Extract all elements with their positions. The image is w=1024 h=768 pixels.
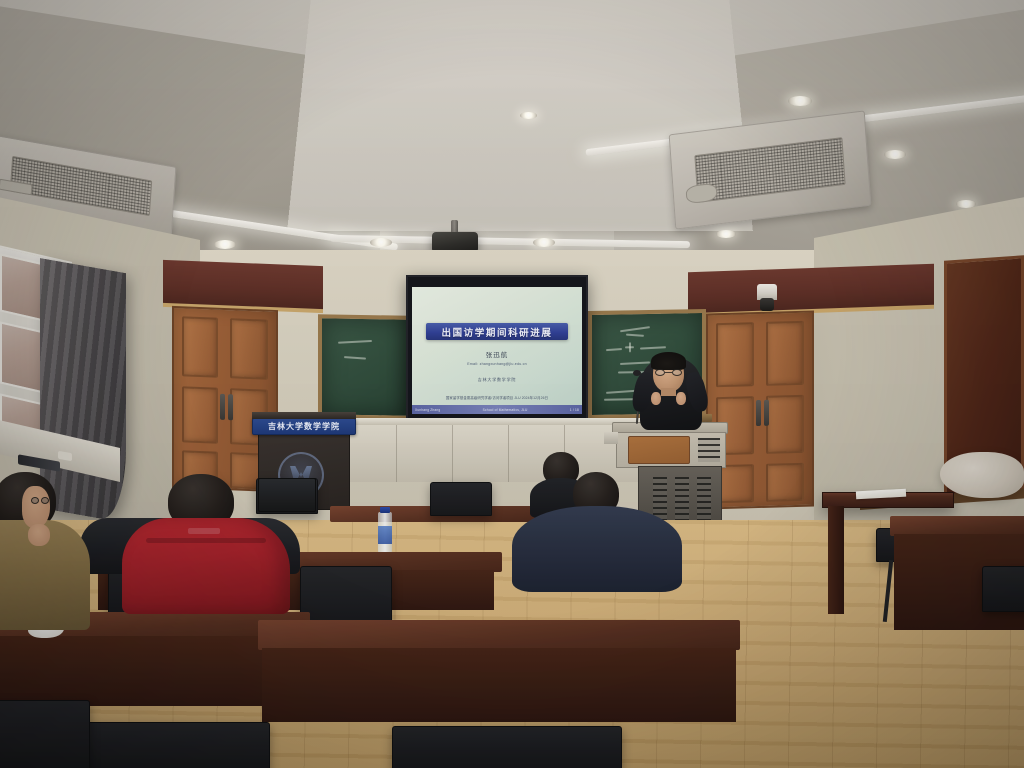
slide-footer-right: 1 / 18 — [570, 408, 579, 412]
slide-footer-left: Xunhang Zhang — [415, 408, 440, 412]
podium-wood-panel — [628, 436, 690, 464]
podium-speaker-vent — [698, 438, 720, 462]
green-chalkboard-left — [318, 314, 410, 420]
slide-affiliation: 吉林大学数学学院 — [412, 377, 582, 383]
wall-seam — [396, 424, 397, 482]
wall-seam — [452, 424, 453, 482]
bottle-cap-icon — [380, 507, 390, 513]
slide-meta-line: 国家留学基金委高级研究学者/访问学者项目 JLU 2024年12月26日 — [412, 395, 582, 400]
chair-front-a — [80, 722, 270, 768]
chair-front-b — [392, 726, 622, 768]
lectern-top-edge — [252, 412, 356, 419]
door-handle-icon — [228, 394, 233, 420]
slide-footer-center: School of Mathematics, JLU — [483, 408, 528, 412]
downlight-icon — [520, 112, 537, 119]
wall-seam — [508, 424, 509, 482]
podium-base-vent — [675, 477, 689, 523]
attendee-left-face — [22, 486, 50, 528]
presenter-neck — [661, 388, 676, 396]
ptz-camera-lens-icon — [760, 298, 774, 311]
student-desk-row3-panel — [0, 636, 302, 706]
dark-gray-curtain — [40, 258, 126, 523]
red-jacket-brand-text — [188, 528, 220, 534]
presenter-glasses-icon — [655, 369, 682, 376]
slide-presenter-name: 张迅航 — [412, 349, 582, 359]
slide-footer: Xunhang Zhang School of Mathematics, JLU… — [412, 405, 582, 414]
side-monitor — [258, 478, 316, 512]
attendee-left-glasses-icon — [31, 497, 49, 504]
stage-edge-trim — [318, 418, 648, 425]
downlight-icon — [788, 96, 812, 106]
projection-screen: 出国访学期间科研进展 出国访学期间科研进展 张迅航 Email: zhangxu… — [406, 275, 588, 420]
downlight-icon — [716, 230, 736, 238]
presentation-slide: 出国访学期间科研进展 出国访学期间科研进展 张迅航 Email: zhangxu… — [412, 287, 582, 414]
attendee-left-hand — [28, 524, 50, 546]
side-desk-back-right-legs — [828, 506, 844, 614]
lectern-sign-text: 吉林大学数学学院 — [268, 421, 340, 432]
front-desk-equipment — [604, 432, 618, 444]
attendee-center-navy-body — [512, 506, 682, 592]
chair-front-c — [0, 700, 90, 768]
door-handle-icon — [220, 394, 225, 420]
slide-title-banner: 出国访学期间科研进展 — [426, 323, 568, 340]
presenter-hand-right — [676, 392, 686, 405]
slide-presenter-email: Email: zhangxunhang@jlu.edu.cn — [412, 362, 582, 366]
red-jacket-hood-seam — [146, 538, 266, 543]
door-handle-icon — [756, 400, 761, 426]
downlight-icon — [370, 238, 392, 247]
slide-title-text: 出国访学期间科研进展 — [441, 325, 552, 339]
student-desk-row3b — [258, 620, 740, 650]
double-door-right[interactable] — [706, 310, 814, 509]
chair-row1-a — [430, 482, 492, 516]
student-desk-row3b-panel — [262, 648, 736, 722]
chair-right-front — [982, 566, 1024, 612]
water-bottle-on-desk — [378, 512, 392, 554]
lecture-hall-photo: 出国访学期间科研进展 出国访学期间科研进展 张迅航 Email: zhangxu… — [0, 0, 1024, 768]
presenter-hair — [651, 352, 686, 370]
door-handle-icon — [764, 400, 769, 426]
chair-row2-b — [300, 566, 392, 628]
downlight-icon — [533, 238, 555, 247]
podium-base-vent — [697, 477, 711, 523]
side-desk-front-right — [890, 516, 1024, 536]
downlight-icon — [214, 240, 236, 249]
presenter-hand-left — [651, 392, 661, 405]
lectern-sign: 吉林大学数学学院 — [252, 418, 356, 435]
downlight-icon — [884, 150, 906, 159]
